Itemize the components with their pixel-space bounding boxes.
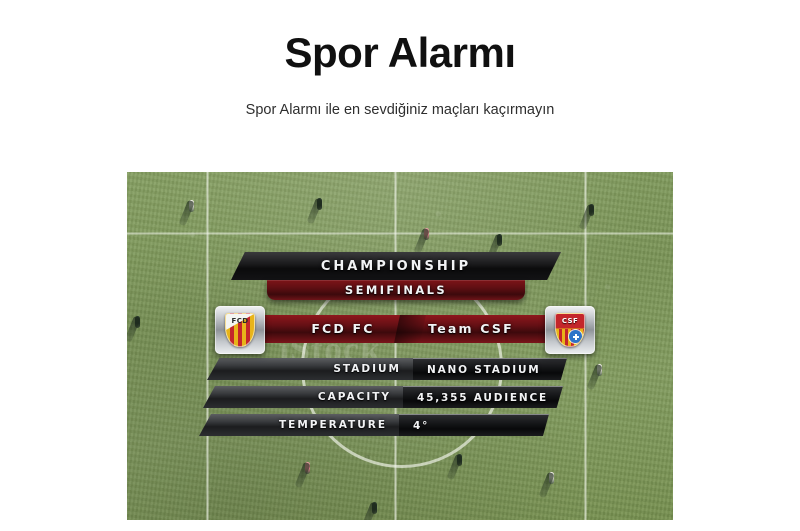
away-team-name: Team CSF [411, 315, 531, 343]
hero-image: iStock CHAMPIONSHIP SEMIFINALS FCD FCD F… [127, 172, 673, 520]
cross-icon [573, 334, 579, 340]
semifinals-label: SEMIFINALS [345, 283, 447, 297]
detail-value-cell: NANO STADIUM [413, 358, 567, 380]
page-subtitle: Spor Alarmı ile en sevdiğiniz maçları ka… [0, 101, 800, 120]
temperature-label: TEMPERATURE [279, 419, 387, 431]
detail-value-cell: 4° [399, 414, 549, 436]
match-info-overlay: CHAMPIONSHIP SEMIFINALS FCD FCD FC Team … [127, 172, 673, 520]
capacity-value: 45,355 AUDIENCE [417, 392, 548, 404]
semifinals-banner: SEMIFINALS [267, 280, 525, 300]
home-team-crest: FCD [215, 306, 265, 354]
detail-label-cell: TEMPERATURE [199, 414, 399, 436]
fcd-shield-icon: FCD [225, 313, 255, 347]
capacity-label: CAPACITY [318, 391, 391, 403]
championship-banner: CHAMPIONSHIP [231, 252, 561, 280]
detail-row-temperature: TEMPERATURE 4° [199, 414, 549, 436]
home-team-name: FCD FC [283, 315, 403, 343]
page-title: Spor Alarmı [0, 30, 800, 75]
stadium-label: STADIUM [333, 363, 401, 375]
page-header: Spor Alarmı Spor Alarmı ile en sevdiğini… [0, 0, 800, 120]
detail-row-capacity: CAPACITY 45,355 AUDIENCE [203, 386, 563, 408]
home-crest-label: FCD [226, 317, 254, 325]
away-crest-label: CSF [556, 317, 584, 325]
detail-label-cell: CAPACITY [203, 386, 403, 408]
away-team-crest: CSF [545, 306, 595, 354]
csf-shield-icon: CSF [555, 313, 585, 347]
detail-value-cell: 45,355 AUDIENCE [403, 386, 563, 408]
detail-row-stadium: STADIUM NANO STADIUM [207, 358, 567, 380]
stadium-value: NANO STADIUM [427, 364, 541, 376]
detail-label-cell: STADIUM [207, 358, 413, 380]
temperature-value: 4° [413, 420, 429, 432]
championship-label: CHAMPIONSHIP [321, 259, 471, 274]
teams-row: FCD FCD FC Team CSF CSF [215, 306, 595, 354]
